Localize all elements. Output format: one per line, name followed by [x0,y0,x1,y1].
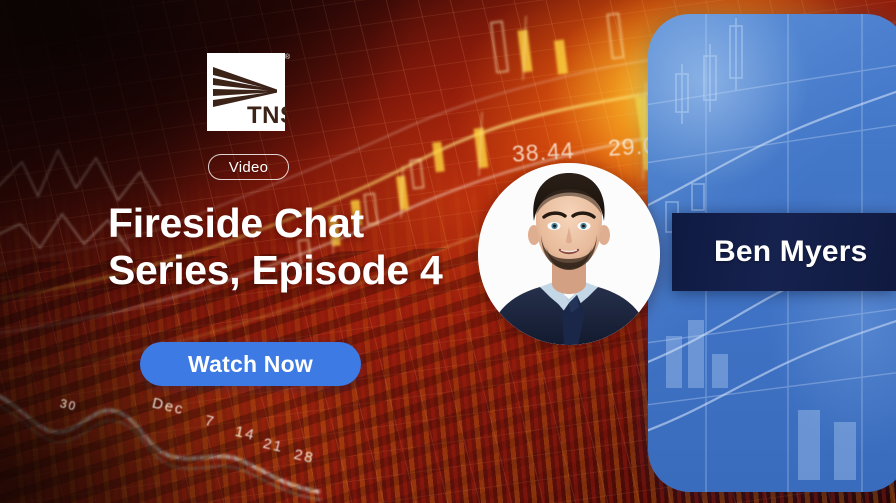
page-title: Fireside Chat Series, Episode 4 [108,200,528,294]
watch-now-button[interactable]: Watch Now [140,342,361,386]
svg-text:TNS: TNS [247,102,285,129]
video-badge-label: Video [229,159,269,176]
headline-line-1: Fireside Chat [108,200,528,247]
promo-banner: 38.44 29.06 30 Dec 7 14 21 28 [0,0,896,503]
speaker-name-plate: Ben Myers [672,213,896,291]
watch-now-label: Watch Now [188,351,313,378]
trademark-symbol: ® [285,54,290,61]
video-badge: Video [208,154,289,180]
headline-line-2: Series, Episode 4 [108,247,528,294]
tns-logo-icon: TNS ® [207,53,285,131]
speaker-name: Ben Myers [672,235,868,269]
